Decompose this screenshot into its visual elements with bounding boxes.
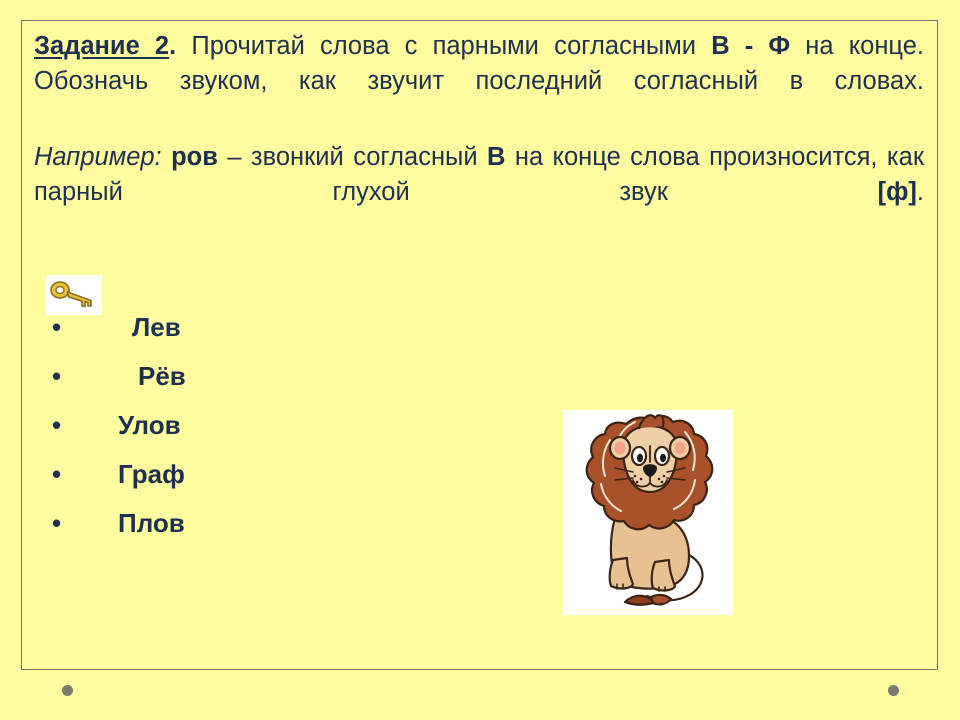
- word-label: Улов: [118, 401, 181, 450]
- example-label: Например:: [34, 143, 162, 171]
- bullet-icon: •: [52, 352, 62, 401]
- task-paragraph-1-text-a: Прочитай слова с парными согласными: [176, 32, 711, 60]
- list-item: • Граф: [36, 450, 466, 499]
- consonant-pair: В - Ф: [711, 32, 790, 60]
- decorative-dot-right: [888, 685, 899, 696]
- slide: Задание 2. Прочитай слова с парными согл…: [0, 0, 960, 720]
- bullet-icon: •: [52, 499, 62, 548]
- list-item: • Рёв: [36, 352, 466, 401]
- bullet-icon: •: [52, 401, 62, 450]
- list-item: • Улов: [36, 401, 466, 450]
- decorative-dot-left: [62, 685, 73, 696]
- content-frame: Задание 2. Прочитай слова с парными согл…: [21, 20, 938, 670]
- bullet-icon: •: [52, 303, 62, 352]
- list-item: • Плов: [36, 499, 466, 548]
- word-label: Рёв: [138, 352, 186, 401]
- task-heading: Задание 2: [34, 32, 169, 60]
- word-label: Плов: [118, 499, 185, 548]
- task-text-block: Задание 2. Прочитай слова с парными согл…: [34, 29, 924, 245]
- word-label: Лев: [132, 303, 181, 352]
- word-list: • Лев • Рёв • Улов • Граф • Плов: [36, 303, 466, 548]
- list-item: • Лев: [36, 303, 466, 352]
- task-paragraph-2-text-a: – звонкий согласный: [218, 143, 487, 171]
- word-label: Граф: [118, 450, 185, 499]
- task-paragraph-1: Задание 2. Прочитай слова с парными согл…: [34, 29, 924, 134]
- task-paragraph-2-period: .: [917, 178, 924, 206]
- bullet-icon: •: [52, 450, 62, 499]
- example-sound: [ф]: [878, 178, 917, 206]
- task-paragraph-2: Например: ров – звонкий согласный В на к…: [34, 140, 924, 245]
- lion-image: [563, 410, 733, 615]
- example-letter: В: [487, 143, 505, 171]
- example-word: ров: [171, 143, 218, 171]
- space-1: [162, 143, 171, 171]
